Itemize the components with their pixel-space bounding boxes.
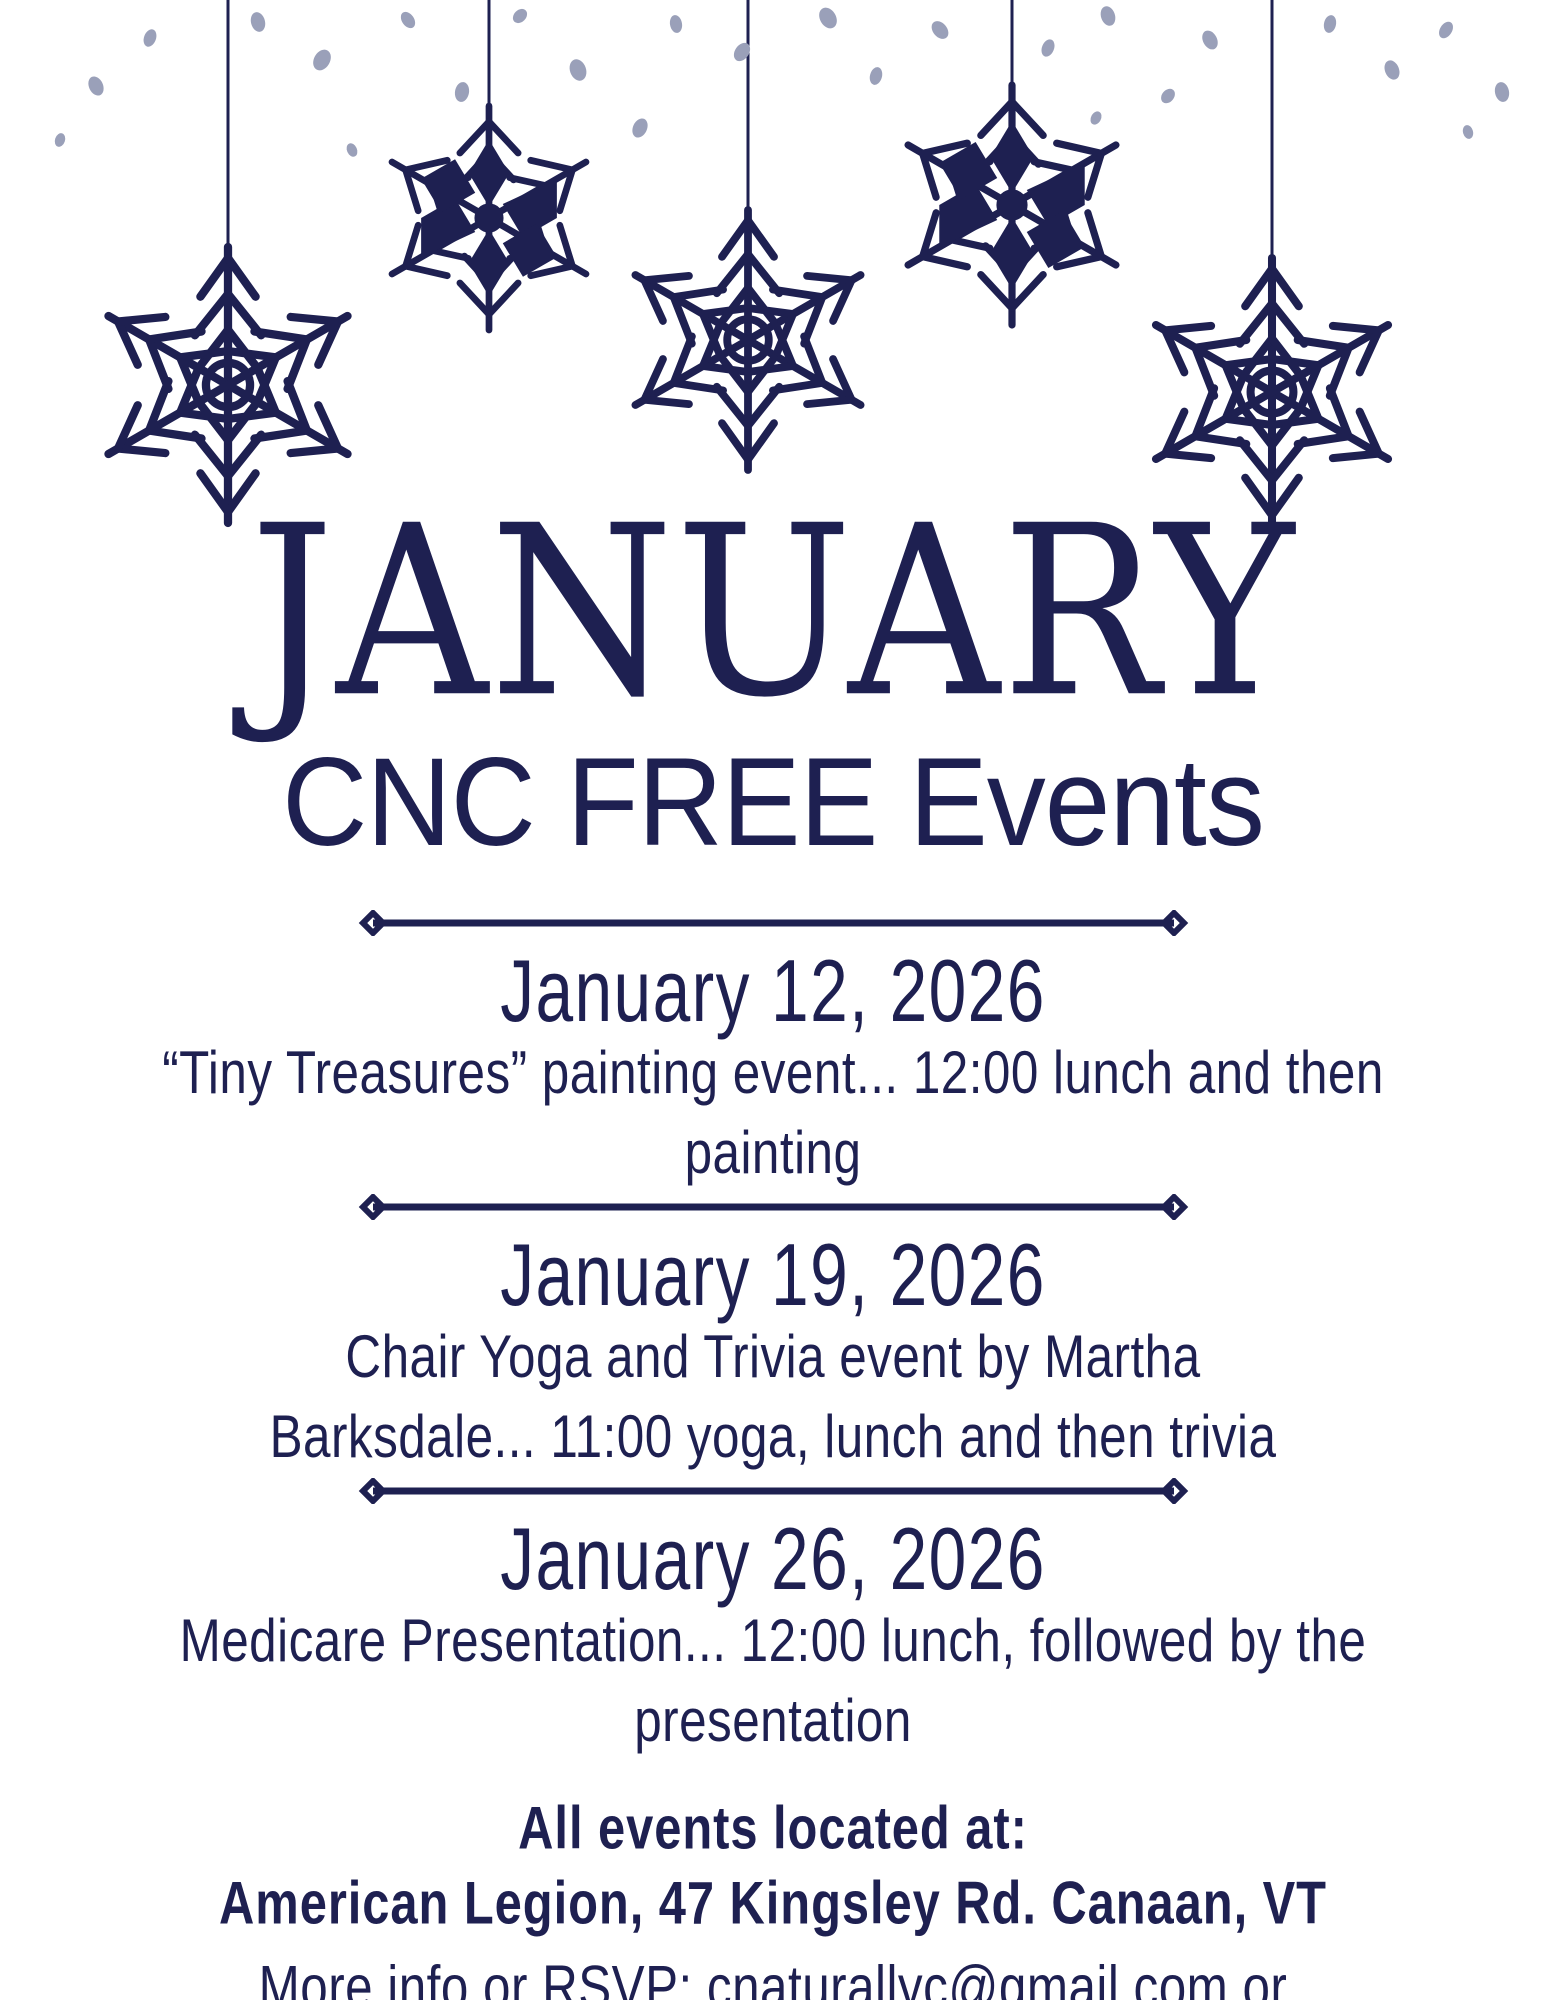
location-label: All events located at: — [46, 1789, 1499, 1870]
snow-speckle-icon — [53, 4, 1511, 158]
divider-3 — [0, 1478, 1546, 1504]
flyer-page: JANUARY CNC FREE Events January 12, 2026… — [0, 0, 1546, 2000]
diamond-divider-icon — [351, 1478, 1196, 1504]
events-list: January 12, 2026 “Tiny Treasures” painti… — [0, 910, 1546, 2000]
diamond-divider-icon — [351, 1194, 1196, 1220]
event-description: Chair Yoga and Trivia event by Martha Ba… — [227, 1318, 1320, 1477]
footer-info: All events located at: American Legion, … — [0, 1795, 1546, 2000]
divider-2 — [0, 1194, 1546, 1220]
hanging-string-icon — [228, 0, 1272, 260]
event-description: “Tiny Treasures” painting event... 12:00… — [99, 1034, 1448, 1193]
contact-rsvp-line: More info or RSVP: cnaturallyc@gmail.com… — [39, 1948, 1508, 2000]
event-date: January 12, 2026 — [46, 941, 1499, 1045]
event-description: Medicare Presentation... 12:00 lunch, fo… — [99, 1602, 1448, 1761]
page-subtitle: CNC FREE Events — [0, 740, 1546, 865]
venue-address: American Legion, 47 Kingsley Rd. Canaan,… — [46, 1865, 1499, 1946]
divider-1 — [0, 910, 1546, 936]
diamond-divider-icon — [351, 910, 1196, 936]
page-title-month: JANUARY — [0, 495, 1546, 730]
event-date: January 19, 2026 — [46, 1225, 1499, 1329]
event-date: January 26, 2026 — [46, 1509, 1499, 1613]
snowflake-icon — [101, 85, 1394, 526]
